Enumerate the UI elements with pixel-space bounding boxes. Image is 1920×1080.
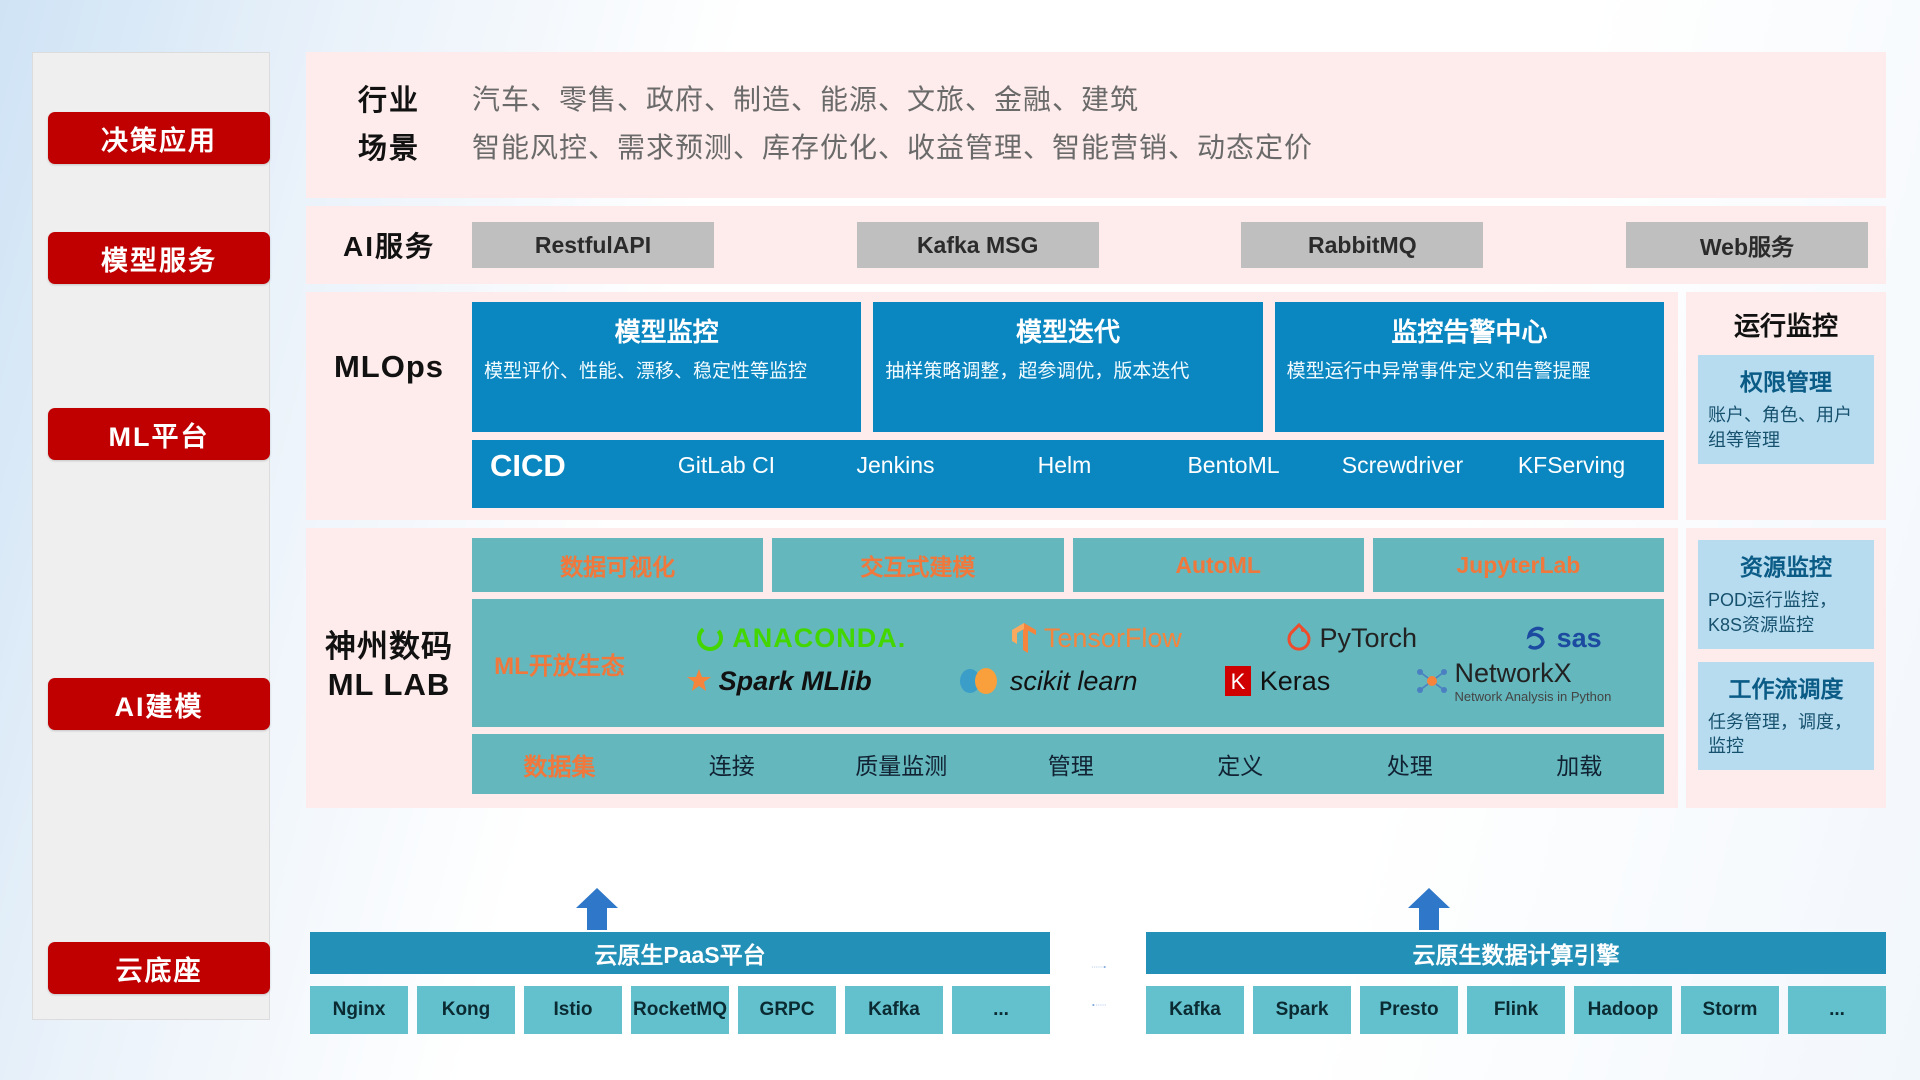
dataset-label: 数据集: [472, 747, 647, 782]
cicd-bar: CICD GitLab CI Jenkins Helm BentoML Scre…: [472, 440, 1664, 508]
scenario-key: 场景: [306, 125, 472, 167]
dataset-item-manage[interactable]: 管理: [986, 747, 1156, 781]
ml-ecosystem-box: ML开放生态 ANACONDA.: [472, 599, 1664, 727]
engine-chip-presto[interactable]: Presto: [1360, 986, 1458, 1034]
tab-interactive-modeling[interactable]: 交互式建模: [772, 538, 1063, 592]
ml-lab-label-line1: 神州数码: [325, 628, 453, 666]
engine-chip-kafka[interactable]: Kafka: [1146, 986, 1244, 1034]
scikit-learn-text: scikit learn: [1010, 666, 1138, 697]
ml-lab-band: 神州数码 ML LAB 数据可视化 交互式建模 AutoML JupyterLa…: [306, 528, 1678, 808]
mlops-card-list: 模型监控 模型评价、性能、漂移、稳定性等监控 模型迭代 抽样策略调整，超参调优，…: [472, 302, 1664, 432]
networkx-text-wrap: NetworkX Network Analysis in Python: [1455, 658, 1612, 704]
keras-text: Keras: [1260, 666, 1331, 697]
scikit-learn-logo: scikit learn: [957, 666, 1138, 697]
arrow-up-data-engine-icon: [1406, 888, 1452, 930]
ai-service-chip[interactable]: RabbitMQ: [1241, 222, 1483, 268]
paas-chip-list: Nginx Kong Istio RocketMQ GRPC Kafka ...: [310, 986, 1050, 1034]
ai-service-band: AI服务 RestfulAPI Kafka MSG RabbitMQ Web服务: [306, 206, 1886, 284]
pytorch-logo: PyTorch: [1286, 623, 1417, 654]
networkx-icon: [1416, 666, 1448, 696]
engine-chip-flink[interactable]: Flink: [1467, 986, 1565, 1034]
industry-value: 汽车、零售、政府、制造、能源、文旅、金融、建筑: [472, 78, 1139, 118]
sidebar-item-label: 云底座: [116, 949, 203, 988]
cicd-item-helm[interactable]: Helm: [982, 448, 1147, 479]
spark-icon: [686, 668, 712, 694]
card-title: 资源监控: [1708, 548, 1864, 582]
engine-chip-hadoop[interactable]: Hadoop: [1574, 986, 1672, 1034]
tensorflow-logo: TensorFlow: [1011, 622, 1182, 654]
dataset-item-define[interactable]: 定义: [1156, 747, 1326, 781]
tab-automl[interactable]: AutoML: [1073, 538, 1364, 592]
networkx-logo: NetworkX Network Analysis in Python: [1416, 658, 1612, 704]
monitor-card-resource[interactable]: 资源监控 POD运行监控，K8S资源监控: [1698, 540, 1874, 649]
ml-lab-label: 神州数码 ML LAB: [306, 538, 472, 794]
scikit-learn-icon: [957, 666, 1003, 696]
card-title: 权限管理: [1708, 363, 1864, 397]
tab-jupyterlab[interactable]: JupyterLab: [1373, 538, 1664, 592]
monitor-card-permission[interactable]: 权限管理 账户、角色、用户组等管理: [1698, 355, 1874, 464]
dataset-item-connect[interactable]: 连接: [647, 747, 817, 781]
cicd-item-screwdriver[interactable]: Screwdriver: [1320, 448, 1485, 479]
cicd-title: CICD: [490, 448, 640, 484]
ai-service-chip[interactable]: RestfulAPI: [472, 222, 714, 268]
cicd-item-gitlab[interactable]: GitLab CI: [644, 448, 809, 479]
sidebar-item-label: ML平台: [109, 415, 210, 454]
monitoring-title: 运行监控: [1698, 306, 1874, 343]
mlops-section: MLOps 模型监控 模型评价、性能、漂移、稳定性等监控 模型迭代 抽样策略调整…: [306, 292, 1886, 520]
ecosystem-logo-row-1: ANACONDA. TensorFlow: [647, 622, 1650, 654]
sidebar-item-ml-platform[interactable]: ML平台: [48, 408, 270, 460]
data-engine-group: 云原生数据计算引擎 Kafka Spark Presto Flink Hadoo…: [1146, 932, 1886, 1034]
mlops-card-model-iteration[interactable]: 模型迭代 抽样策略调整，超参调优，版本迭代: [873, 302, 1262, 432]
sidebar-item-cloud-foundation[interactable]: 云底座: [48, 942, 270, 994]
networkx-text: NetworkX: [1455, 658, 1572, 688]
engine-chip-spark[interactable]: Spark: [1253, 986, 1351, 1034]
card-desc: 任务管理，调度，监控: [1708, 710, 1864, 760]
pytorch-text: PyTorch: [1319, 623, 1417, 654]
monitoring-panel-top: 运行监控 权限管理 账户、角色、用户组等管理: [1686, 292, 1886, 520]
industry-key: 行业: [306, 77, 472, 119]
sas-logo: sas: [1522, 623, 1602, 654]
card-title: 工作流调度: [1708, 670, 1864, 704]
ml-lab-section: 神州数码 ML LAB 数据可视化 交互式建模 AutoML JupyterLa…: [306, 528, 1886, 808]
tensorflow-text: TensorFlow: [1044, 623, 1182, 654]
paas-chip-kong[interactable]: Kong: [417, 986, 515, 1034]
spark-mllib-logo: Spark MLlib: [686, 666, 872, 697]
card-desc: 模型运行中异常事件定义和告警提醒: [1287, 359, 1652, 386]
sidebar-item-model-service[interactable]: 模型服务: [48, 232, 270, 284]
cicd-spacer: [306, 432, 472, 508]
paas-chip-kafka[interactable]: Kafka: [845, 986, 943, 1034]
anaconda-icon: [695, 623, 725, 653]
ml-lab-tool-tabs: 数据可视化 交互式建模 AutoML JupyterLab: [472, 538, 1664, 592]
card-title: 模型迭代: [885, 312, 1250, 349]
card-desc: 账户、角色、用户组等管理: [1708, 403, 1864, 453]
paas-chip-istio[interactable]: Istio: [524, 986, 622, 1034]
ai-service-label: AI服务: [306, 225, 472, 265]
data-engine-bar: 云原生数据计算引擎: [1146, 932, 1886, 974]
cicd-item-bentoml[interactable]: BentoML: [1151, 448, 1316, 479]
scenario-row: 场景 智能风控、需求预测、库存优化、收益管理、智能营销、动态定价: [306, 122, 1886, 170]
card-desc: 抽样策略调整，超参调优，版本迭代: [885, 359, 1250, 386]
mlops-card-model-monitor[interactable]: 模型监控 模型评价、性能、漂移、稳定性等监控: [472, 302, 861, 432]
paas-chip-more[interactable]: ...: [952, 986, 1050, 1034]
cicd-item-jenkins[interactable]: Jenkins: [813, 448, 978, 479]
ml-lab-content: 数据可视化 交互式建模 AutoML JupyterLab ML开放生态: [472, 538, 1664, 794]
keras-icon: K: [1223, 665, 1253, 697]
ai-service-chip[interactable]: Kafka MSG: [857, 222, 1099, 268]
mlops-band: MLOps 模型监控 模型评价、性能、漂移、稳定性等监控 模型迭代 抽样策略调整…: [306, 292, 1678, 520]
dataset-item-process[interactable]: 处理: [1325, 747, 1495, 781]
paas-chip-rocketmq[interactable]: RocketMQ: [631, 986, 729, 1034]
anaconda-text: ANACONDA.: [732, 623, 906, 654]
ml-ecosystem-logos: ANACONDA. TensorFlow: [647, 599, 1664, 727]
svg-text:K: K: [1230, 669, 1245, 694]
dataset-row: 数据集 连接 质量监测 管理 定义 处理 加载: [472, 734, 1664, 794]
pytorch-icon: [1286, 623, 1312, 653]
ml-ecosystem-label: ML开放生态: [472, 599, 647, 727]
engine-chip-more[interactable]: ...: [1788, 986, 1886, 1034]
arrow-up-paas-icon: [574, 888, 620, 930]
ecosystem-logo-row-2: Spark MLlib scikit learn: [647, 658, 1650, 704]
ml-lab-label-line2: ML LAB: [325, 666, 453, 704]
dataset-item-quality[interactable]: 质量监测: [817, 747, 987, 781]
cicd-row: CICD GitLab CI Jenkins Helm BentoML Scre…: [306, 432, 1664, 508]
anaconda-logo: ANACONDA.: [695, 623, 906, 654]
sas-text: sas: [1557, 623, 1602, 654]
card-title: 监控告警中心: [1287, 312, 1652, 349]
sidebar-item-ai-modeling[interactable]: AI建模: [48, 678, 270, 730]
applications-band: 行业 汽车、零售、政府、制造、能源、文旅、金融、建筑 场景 智能风控、需求预测、…: [306, 52, 1886, 198]
mlops-row: MLOps 模型监控 模型评价、性能、漂移、稳定性等监控 模型迭代 抽样策略调整…: [306, 302, 1664, 432]
dataset-item-load[interactable]: 加载: [1495, 747, 1665, 781]
ml-lab-row: 神州数码 ML LAB 数据可视化 交互式建模 AutoML JupyterLa…: [306, 538, 1664, 794]
data-engine-chip-list: Kafka Spark Presto Flink Hadoop Storm ..…: [1146, 986, 1886, 1034]
card-desc: 模型评价、性能、漂移、稳定性等监控: [484, 359, 849, 386]
monitoring-panel-bottom: 资源监控 POD运行监控，K8S资源监控 工作流调度 任务管理，调度，监控: [1686, 528, 1886, 808]
monitor-card-workflow[interactable]: 工作流调度 任务管理，调度，监控: [1698, 662, 1874, 771]
engine-chip-storm[interactable]: Storm: [1681, 986, 1779, 1034]
cicd-item-kfserving[interactable]: KFServing: [1489, 448, 1654, 479]
tensorflow-icon: [1011, 622, 1037, 654]
paas-chip-grpc[interactable]: GRPC: [738, 986, 836, 1034]
dashed-arrow-right-icon: [1058, 966, 1140, 968]
paas-platform-bar: 云原生PaaS平台: [310, 932, 1050, 974]
paas-platform-group: 云原生PaaS平台 Nginx Kong Istio RocketMQ GRPC…: [310, 932, 1050, 1034]
cloud-foundation-section: 云原生PaaS平台 Nginx Kong Istio RocketMQ GRPC…: [306, 890, 1886, 1040]
keras-logo: K Keras: [1223, 665, 1331, 697]
main-diagram: 行业 汽车、零售、政府、制造、能源、文旅、金融、建筑 场景 智能风控、需求预测、…: [306, 52, 1886, 808]
card-desc: POD运行监控，K8S资源监控: [1708, 588, 1864, 638]
tab-data-visualization[interactable]: 数据可视化: [472, 538, 763, 592]
industry-row: 行业 汽车、零售、政府、制造、能源、文旅、金融、建筑: [306, 74, 1886, 122]
mlops-card-alert-center[interactable]: 监控告警中心 模型运行中异常事件定义和告警提醒: [1275, 302, 1664, 432]
sidebar-item-decision-app[interactable]: 决策应用: [48, 112, 270, 164]
sas-icon: [1522, 624, 1550, 652]
networkx-subtitle: Network Analysis in Python: [1455, 689, 1612, 704]
sidebar-item-label: 模型服务: [101, 239, 217, 278]
paas-chip-nginx[interactable]: Nginx: [310, 986, 408, 1034]
scenario-value: 智能风控、需求预测、库存优化、收益管理、智能营销、动态定价: [472, 126, 1313, 166]
card-title: 模型监控: [484, 312, 849, 349]
dashed-arrow-left-icon: [1058, 1004, 1140, 1006]
spark-mllib-text: Spark MLlib: [719, 666, 872, 697]
ai-service-chip[interactable]: Web服务: [1626, 222, 1868, 268]
sidebar-item-label: 决策应用: [101, 119, 217, 158]
sidebar-item-label: AI建模: [115, 685, 204, 724]
ai-service-chip-list: RestfulAPI Kafka MSG RabbitMQ Web服务: [472, 222, 1886, 268]
mlops-label: MLOps: [306, 302, 472, 432]
left-rail-panel: [32, 52, 270, 1020]
